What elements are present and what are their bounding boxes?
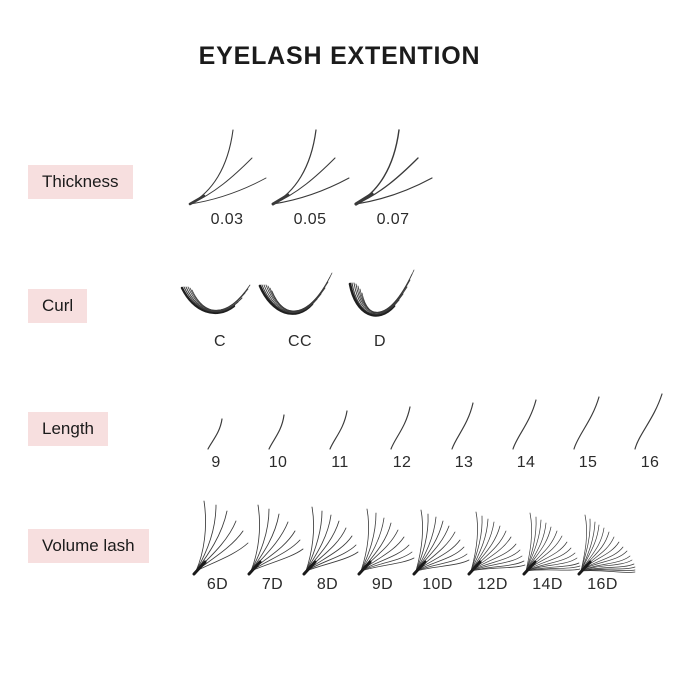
thickness-item-1[interactable]: 0.05 [265,124,355,229]
volume-caption-4: 10D [410,576,465,594]
volume-caption-2: 8D [300,576,355,594]
lash-curl-strip-icon [336,262,424,332]
length-item-6[interactable]: 15 [558,393,618,472]
lash-volume-fan-icon [410,497,470,575]
length-caption-6: 15 [558,454,618,472]
length-caption-0: 9 [186,454,246,472]
lash-volume-fan-icon [575,497,635,575]
volume-caption-7: 16D [575,576,630,594]
lash-volume-fan-icon [355,497,415,575]
thickness-item-0[interactable]: 0.03 [182,124,272,229]
lash-single-strand-icon [310,393,370,453]
lash-single-strand-icon [620,393,679,453]
thickness-caption-1: 0.05 [265,211,355,229]
volume-caption-6: 14D [520,576,575,594]
length-item-0[interactable]: 9 [186,393,246,472]
lash-fan-3-strand-icon [348,124,438,210]
curl-caption-0: C [176,333,264,351]
length-item-3[interactable]: 12 [372,393,432,472]
volume-item-0[interactable]: 6D [190,497,245,594]
volume-item-4[interactable]: 10D [410,497,465,594]
volume-item-3[interactable]: 9D [355,497,410,594]
lash-fan-3-strand-icon [182,124,272,210]
length-item-2[interactable]: 11 [310,393,370,472]
length-item-4[interactable]: 13 [434,393,494,472]
length-caption-4: 13 [434,454,494,472]
page-title: EYELASH EXTENTION [0,42,679,71]
row-label-curl: Curl [28,289,87,323]
lash-volume-fan-icon [465,497,525,575]
lash-curl-strip-icon [256,262,344,332]
volume-item-7[interactable]: 16D [575,497,630,594]
curl-caption-2: D [336,333,424,351]
length-caption-3: 12 [372,454,432,472]
lash-single-strand-icon [496,393,556,453]
length-caption-7: 16 [620,454,679,472]
length-item-5[interactable]: 14 [496,393,556,472]
row-label-length: Length [28,412,108,446]
volume-item-2[interactable]: 8D [300,497,355,594]
row-label-volume: Volume lash [28,529,149,563]
lash-volume-fan-icon [300,497,360,575]
lash-curl-strip-icon [176,262,264,332]
volume-caption-1: 7D [245,576,300,594]
length-caption-2: 11 [310,454,370,472]
lash-single-strand-icon [186,393,246,453]
thickness-item-2[interactable]: 0.07 [348,124,438,229]
thickness-caption-2: 0.07 [348,211,438,229]
curl-item-0[interactable]: C [176,262,264,351]
lash-volume-fan-icon [190,497,250,575]
lash-single-strand-icon [558,393,618,453]
lash-single-strand-icon [372,393,432,453]
volume-item-6[interactable]: 14D [520,497,575,594]
thickness-caption-0: 0.03 [182,211,272,229]
volume-caption-5: 12D [465,576,520,594]
curl-item-1[interactable]: CC [256,262,344,351]
lash-fan-3-strand-icon [265,124,355,210]
volume-item-1[interactable]: 7D [245,497,300,594]
row-label-thickness: Thickness [28,165,133,199]
volume-caption-3: 9D [355,576,410,594]
volume-item-5[interactable]: 12D [465,497,520,594]
lash-single-strand-icon [248,393,308,453]
curl-caption-1: CC [256,333,344,351]
eyelash-extension-chart: EYELASH EXTENTION Thickness 0.03 [0,0,679,679]
lash-volume-fan-icon [245,497,305,575]
length-caption-1: 10 [248,454,308,472]
length-item-7[interactable]: 16 [620,393,679,472]
volume-caption-0: 6D [190,576,245,594]
length-item-1[interactable]: 10 [248,393,308,472]
curl-item-2[interactable]: D [336,262,424,351]
lash-volume-fan-icon [520,497,580,575]
lash-single-strand-icon [434,393,494,453]
length-caption-5: 14 [496,454,556,472]
